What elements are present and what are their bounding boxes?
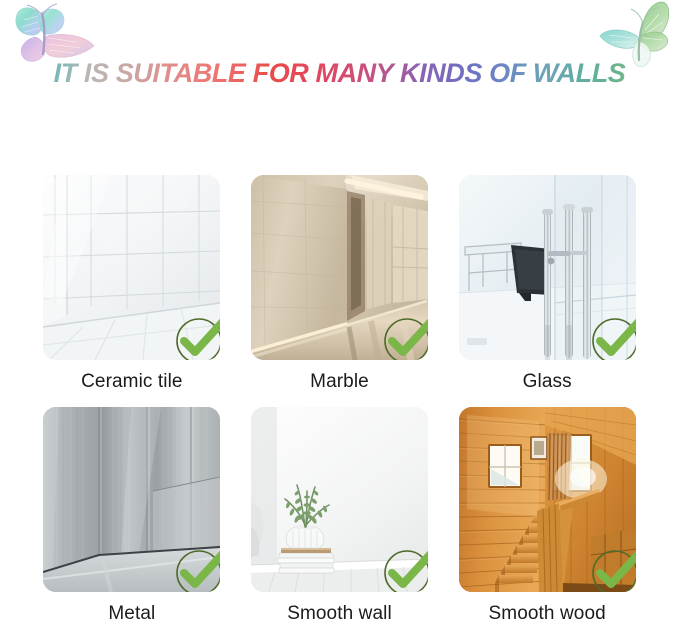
surface-label: Ceramic tile [81,371,183,393]
surface-card-marble[interactable]: Marble [236,175,444,407]
surface-card-smooth-wall[interactable]: Smooth wall [236,407,444,625]
surface-label: Marble [310,371,369,393]
surface-grid: Ceramic tile [0,175,679,625]
surface-card-ceramic-tile[interactable]: Ceramic tile [28,175,236,407]
surface-photo-glass [459,175,636,360]
surface-card-smooth-wood[interactable]: Smooth wood [443,407,651,625]
surface-photo-metal [43,407,220,592]
surface-label: Glass [523,371,572,393]
surface-photo-ceramic-tile [43,175,220,360]
surface-label: Smooth wood [489,603,606,625]
surface-card-glass[interactable]: Glass [443,175,651,407]
page-title: IT IS SUITABLE FOR MANY KINDS OF WALLS [0,58,679,89]
surface-photo-marble [251,175,428,360]
surface-card-metal[interactable]: Metal [28,407,236,625]
surface-label: Smooth wall [287,603,392,625]
surface-label: Metal [108,603,155,625]
surface-photo-smooth-wood [459,407,636,592]
surface-photo-smooth-wall [251,407,428,592]
header-banner: IT IS SUITABLE FOR MANY KINDS OF WALLS [0,0,679,175]
